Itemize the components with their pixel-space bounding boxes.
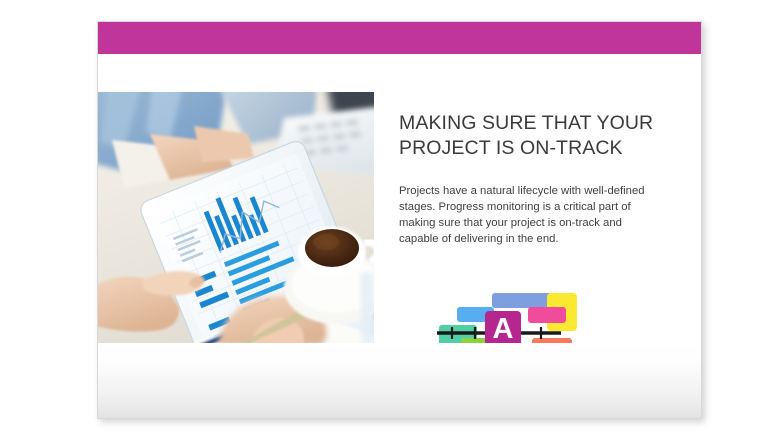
gantt-badge-letter: A: [493, 313, 514, 345]
slide-footer-gradient: [98, 343, 702, 418]
slide-photo: [98, 92, 374, 345]
presentation-slide: MAKING SURE THAT YOUR PROJECT IS ON-TRAC…: [97, 21, 702, 419]
business-tablet-photo-illustration: [98, 92, 374, 345]
slide-content-column: MAKING SURE THAT YOUR PROJECT IS ON-TRAC…: [399, 111, 661, 247]
slide-body-text: Projects have a natural lifecycle with w…: [399, 183, 645, 247]
slide-header-band: [98, 22, 702, 54]
gantt-bar-pink: [528, 307, 566, 323]
photo-glass: [360, 272, 374, 345]
gantt-badge-a: A: [485, 311, 521, 347]
gantt-bar-blue-top: [492, 293, 552, 308]
page-title: MAKING SURE THAT YOUR PROJECT IS ON-TRAC…: [399, 111, 661, 161]
